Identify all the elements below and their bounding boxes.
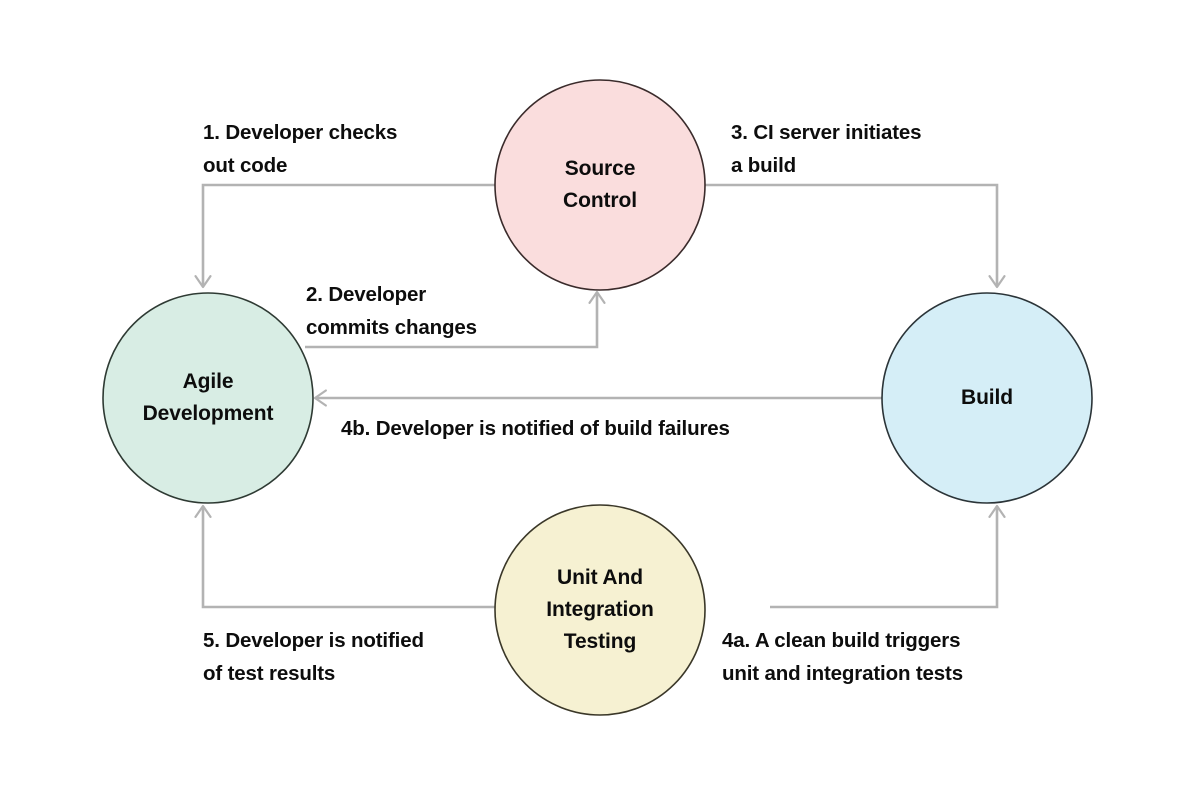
diagram-canvas: Source ControlAgile DevelopmentBuildUnit… bbox=[0, 0, 1200, 800]
diagram-graphics bbox=[0, 0, 1200, 800]
edge-4b bbox=[315, 391, 882, 406]
edge-4a bbox=[770, 506, 1005, 607]
edge-label-5: 5. Developer is notified of test results bbox=[203, 625, 424, 691]
edge-line bbox=[203, 506, 495, 607]
edge-label-4a: 4a. A clean build triggers unit and inte… bbox=[722, 625, 963, 691]
edge-line bbox=[203, 185, 495, 287]
edge-line bbox=[770, 506, 997, 607]
edge-label-3: 3. CI server initiates a build bbox=[731, 117, 921, 183]
edge-1 bbox=[196, 185, 496, 287]
edge-label-1: 1. Developer checks out code bbox=[203, 117, 397, 183]
node-source-control[interactable] bbox=[495, 80, 705, 290]
node-build[interactable] bbox=[882, 293, 1092, 503]
edge-line bbox=[705, 185, 997, 287]
edge-label-2: 2. Developer commits changes bbox=[306, 279, 477, 345]
node-unit-and-integration-testing[interactable] bbox=[495, 505, 705, 715]
edge-3 bbox=[705, 185, 1005, 287]
node-agile-development[interactable] bbox=[103, 293, 313, 503]
edge-label-4b: 4b. Developer is notified of build failu… bbox=[341, 413, 730, 446]
edge-5 bbox=[196, 506, 496, 607]
